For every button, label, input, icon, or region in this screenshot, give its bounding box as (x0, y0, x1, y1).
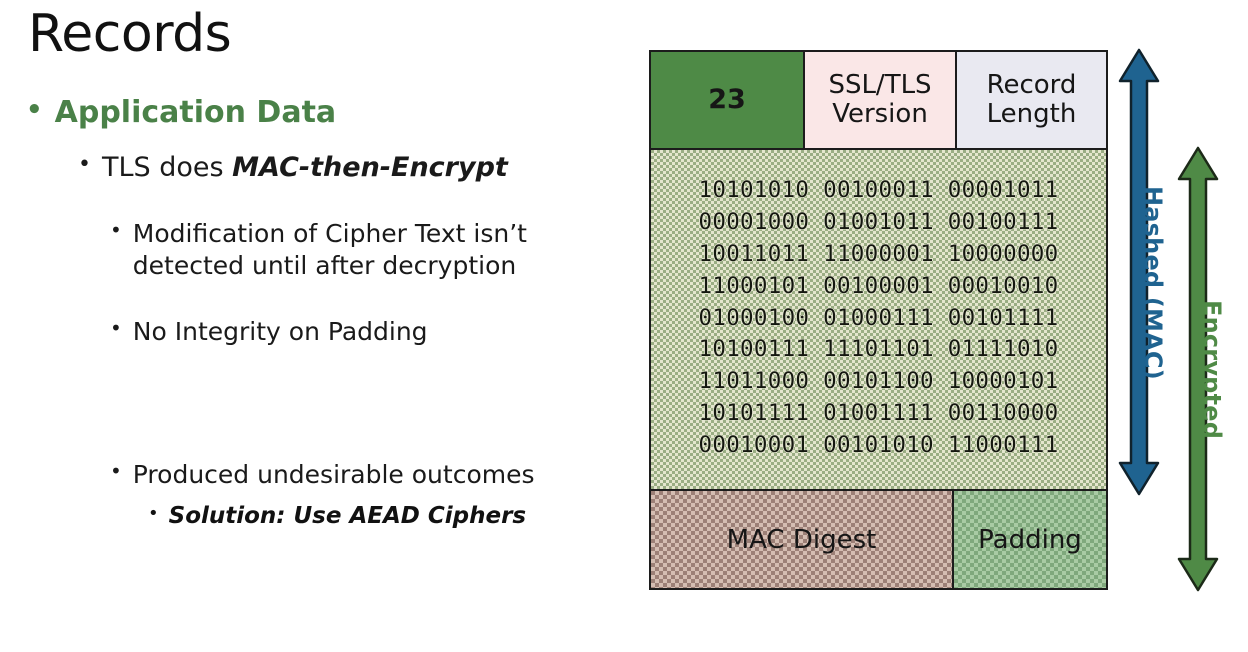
bullet-modification-not-detected: • Modification of Cipher Text isn’t dete… (110, 218, 640, 281)
record-footer-row: MAC Digest Padding (651, 491, 1106, 588)
payload-binary-row: 01000100 01000111 00101111 (651, 303, 1106, 335)
record-length-cell: RecordLength (957, 52, 1106, 148)
bullet-text-emphasis: MAC-then-Encrypt (232, 152, 508, 183)
bullet-dot-icon: • (148, 505, 159, 523)
record-length-label: RecordLength (987, 71, 1077, 129)
tls-record-diagram: 23 SSL/TLSVersion RecordLength 10101010 … (649, 50, 1108, 590)
bullet-no-integrity-padding: • No Integrity on Padding (110, 316, 640, 348)
encrypted-arrow-label: Encrypted (1198, 300, 1226, 439)
bullet-undesirable-outcomes-label: Produced undesirable outcomes (133, 459, 640, 491)
bullet-undesirable-outcomes: • Produced undesirable outcomes (110, 459, 640, 491)
record-padding-cell: Padding (954, 491, 1106, 588)
bullet-mac-then-encrypt-label: TLS does MAC-then-Encrypt (102, 152, 638, 183)
page-title: Records (28, 6, 231, 63)
record-length-line1: Record (987, 70, 1077, 100)
bullet-dot-icon: • (110, 461, 122, 481)
hashed-mac-arrow-label: Hashed (MAC) (1139, 186, 1167, 380)
record-version-line1: SSL/TLS (828, 70, 931, 100)
bullet-dot-icon: • (78, 154, 91, 176)
bullet-solution-aead: • Solution: Use AEAD Ciphers (148, 503, 648, 529)
bullet-mac-then-encrypt: • TLS does MAC-then-Encrypt (78, 152, 638, 183)
record-version-line2: Version (832, 99, 928, 129)
record-content-type-cell: 23 (651, 52, 805, 148)
bullet-solution-aead-label: Solution: Use AEAD Ciphers (169, 503, 648, 529)
record-length-line2: Length (987, 99, 1077, 129)
bullet-dot-icon: • (110, 220, 122, 240)
payload-binary-row: 10101111 01001111 00110000 (651, 398, 1106, 430)
bullet-application-data: • Application Data (26, 95, 616, 130)
bullet-modification-not-detected-label: Modification of Cipher Text isn’t detect… (133, 218, 640, 281)
record-header-row: 23 SSL/TLSVersion RecordLength (651, 52, 1106, 150)
record-version-cell: SSL/TLSVersion (805, 52, 957, 148)
bullet-application-data-label: Application Data (55, 95, 616, 130)
slide-text-column: Records • Application Data • TLS does MA… (0, 0, 640, 652)
bullet-dot-icon: • (26, 97, 43, 123)
record-version-label: SSL/TLSVersion (828, 71, 931, 129)
payload-binary-row: 11011000 00101100 10000101 (651, 366, 1106, 398)
bullet-dot-icon: • (110, 318, 122, 338)
payload-binary-row: 10101010 00100011 00001011 (651, 175, 1106, 207)
record-mac-digest-cell: MAC Digest (651, 491, 954, 588)
record-payload-block: 10101010 00100011 00001011 00001000 0100… (651, 150, 1106, 491)
payload-binary-row: 10100111 11101101 01111010 (651, 334, 1106, 366)
bullet-text-prefix: TLS does (102, 152, 232, 183)
bullet-no-integrity-padding-label: No Integrity on Padding (133, 316, 640, 348)
payload-binary-row: 10011011 11000001 10000000 (651, 239, 1106, 271)
payload-binary-row: 11000101 00100001 00010010 (651, 271, 1106, 303)
payload-binary-row: 00010001 00101010 11000111 (651, 430, 1106, 462)
payload-binary-row: 00001000 01001011 00100111 (651, 207, 1106, 239)
